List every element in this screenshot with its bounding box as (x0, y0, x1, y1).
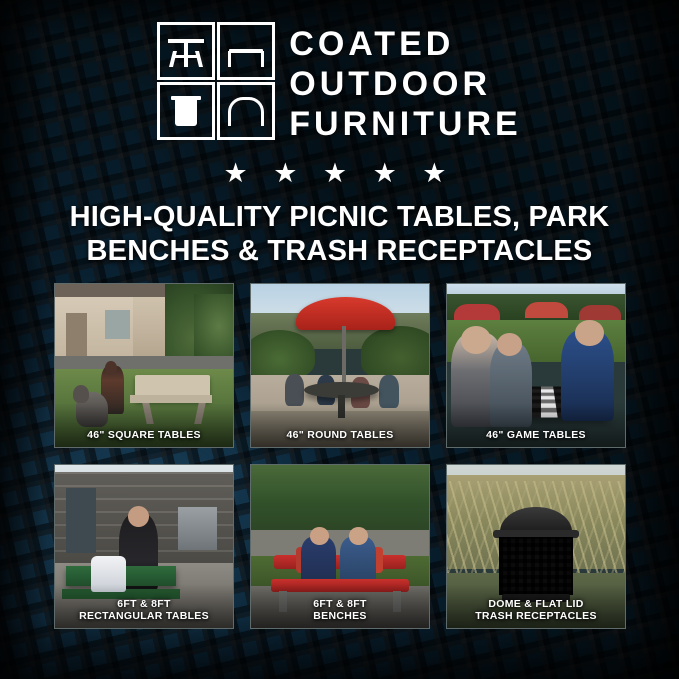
brand-wordmark: COATED OUTDOOR FURNITURE (289, 24, 521, 144)
arch-icon (217, 82, 275, 140)
product-tile-benches[interactable]: 6FT & 8FT BENCHES (250, 464, 430, 629)
trash-receptacle-icon (157, 82, 215, 140)
caption-line-1: 6FT & 8FT (55, 598, 233, 610)
product-grid: 46" SQUARE TABLES 46" ROUND TABLES (54, 283, 626, 629)
star-rating: ★ ★ ★ ★ ★ (0, 158, 679, 188)
picnic-table-icon (157, 22, 215, 80)
product-banner: COATED OUTDOOR FURNITURE ★ ★ ★ ★ ★ HIGH-… (0, 0, 679, 679)
product-tile-caption: 46" ROUND TABLES (251, 429, 429, 441)
caption-line-1: DOME & FLAT LID (447, 598, 625, 610)
page-title: HIGH-QUALITY PICNIC TABLES, PARK BENCHES… (40, 200, 639, 268)
park-bench-icon (217, 22, 275, 80)
brand-word-2: OUTDOOR (289, 64, 521, 104)
caption-line-2: BENCHES (251, 610, 429, 622)
caption-line-1: 6FT & 8FT (251, 598, 429, 610)
product-tile-caption: 46" GAME TABLES (447, 429, 625, 441)
product-tile-game-tables[interactable]: 46" GAME TABLES (446, 283, 626, 448)
brand-logo: COATED OUTDOOR FURNITURE (0, 22, 679, 144)
product-tile-caption: 6FT & 8FT RECTANGULAR TABLES (55, 598, 233, 622)
product-tile-round-tables[interactable]: 46" ROUND TABLES (250, 283, 430, 448)
product-tile-square-tables[interactable]: 46" SQUARE TABLES (54, 283, 234, 448)
product-tile-trash-receptacles[interactable]: DOME & FLAT LID TRASH RECEPTACLES (446, 464, 626, 629)
product-tile-rectangular-tables[interactable]: 6FT & 8FT RECTANGULAR TABLES (54, 464, 234, 629)
brand-word-1: COATED (289, 24, 521, 64)
caption-line-2: RECTANGULAR TABLES (55, 610, 233, 622)
caption-line-2: TRASH RECEPTACLES (447, 610, 625, 622)
logo-mark (157, 22, 275, 140)
brand-word-3: FURNITURE (289, 104, 521, 144)
headline-line-1: HIGH-QUALITY PICNIC TABLES, PARK (40, 200, 639, 234)
headline-line-2: BENCHES & TRASH RECEPTACLES (40, 234, 639, 268)
product-tile-caption: DOME & FLAT LID TRASH RECEPTACLES (447, 598, 625, 622)
product-tile-caption: 6FT & 8FT BENCHES (251, 598, 429, 622)
product-tile-caption: 46" SQUARE TABLES (55, 429, 233, 441)
